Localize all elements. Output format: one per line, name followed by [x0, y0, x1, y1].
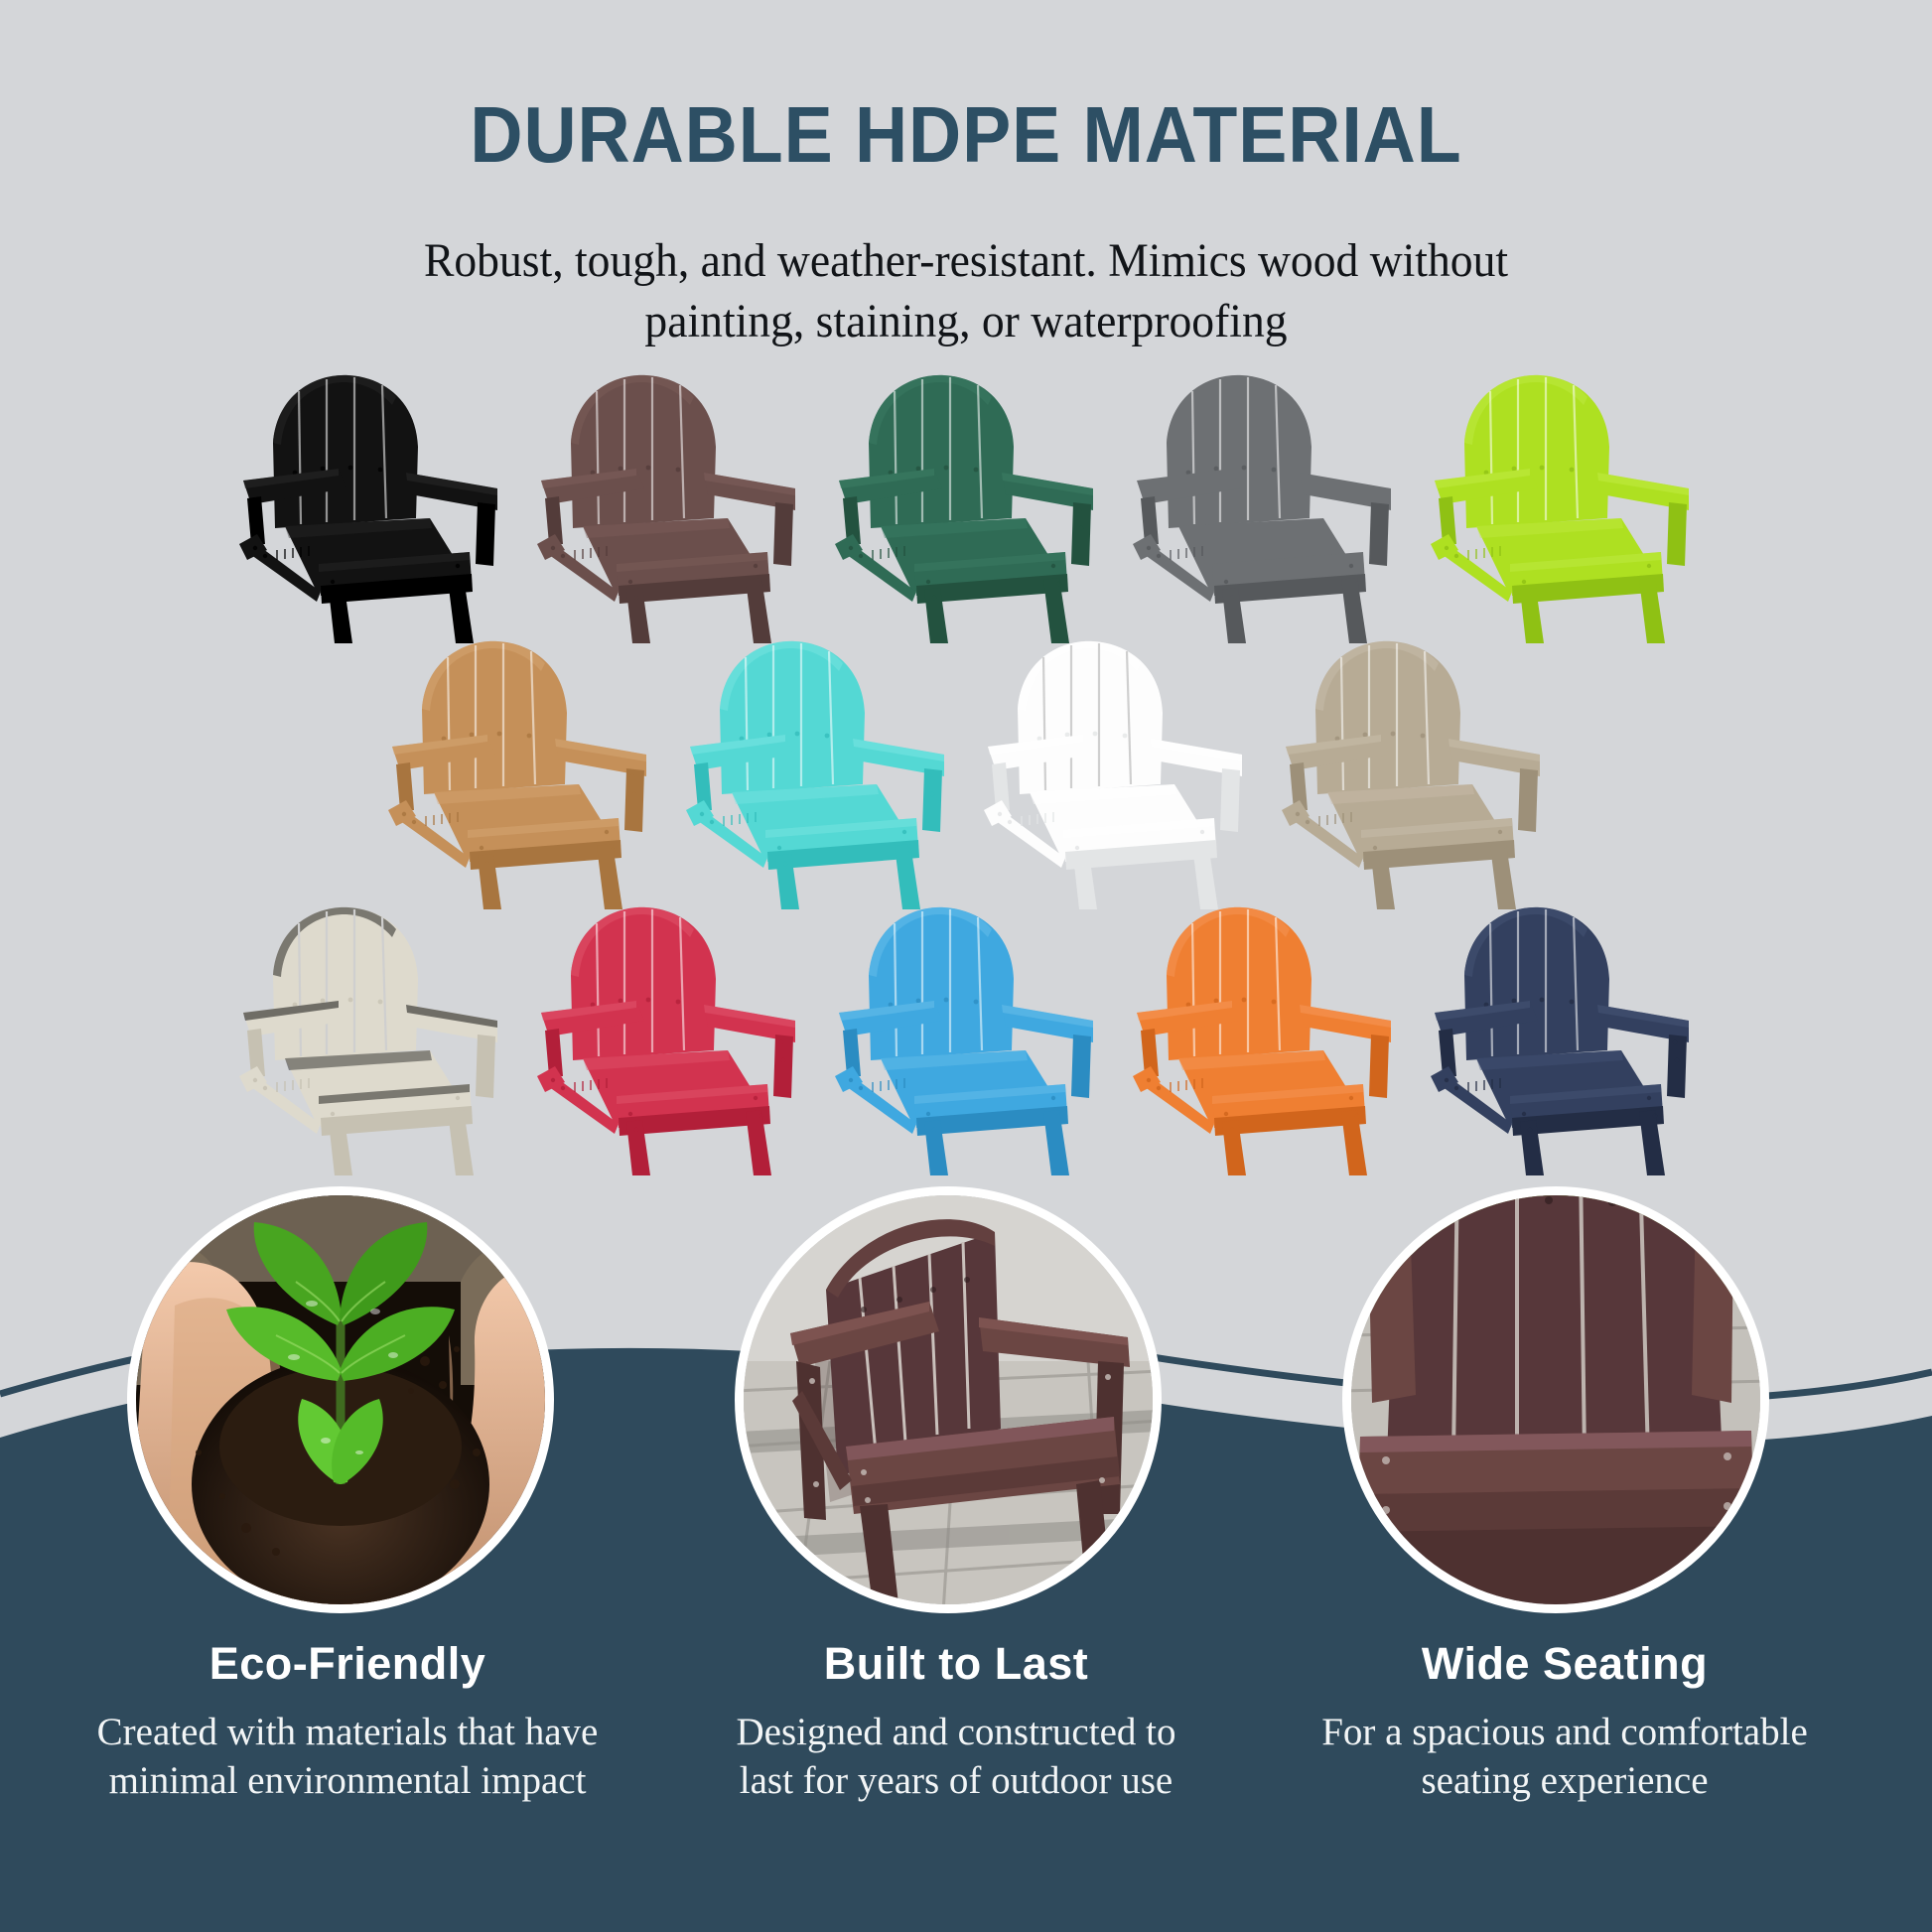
- chair-swatch-weathered-wood[interactable]: [1264, 635, 1562, 909]
- chair-2-1: [519, 901, 817, 1175]
- chair-swatch-brown[interactable]: [519, 369, 817, 643]
- photo-circle-wide-seat-closeup: [1342, 1186, 1769, 1613]
- chair-swatch-ivory[interactable]: [221, 901, 519, 1175]
- chair-0-1: [519, 369, 817, 643]
- chair-back: [273, 907, 418, 1060]
- chair-back: [1315, 641, 1460, 794]
- chair-1-1: [668, 635, 966, 909]
- feature-heading: Built to Last: [648, 1638, 1264, 1690]
- feature-heading: Eco-Friendly: [40, 1638, 655, 1690]
- chair-swatch-dark-green[interactable]: [817, 369, 1115, 643]
- chair-back: [869, 907, 1014, 1060]
- chair-swatch-sky-blue[interactable]: [817, 901, 1115, 1175]
- chair-swatch-orange[interactable]: [1115, 901, 1413, 1175]
- chair-row: [0, 635, 1932, 909]
- brown-chair-on-patio-image: [735, 1186, 1162, 1613]
- chair-back: [571, 907, 716, 1060]
- feature-caption-row: Eco-Friendly Created with materials that…: [0, 1638, 1932, 1886]
- chair-2-4: [1413, 901, 1711, 1175]
- chair-back: [422, 641, 567, 794]
- chair-back: [571, 375, 716, 528]
- chair-1-2: [966, 635, 1264, 909]
- chair-1-0: [370, 635, 668, 909]
- chair-back: [1464, 375, 1609, 528]
- feature-description: Created with materials that have minimal…: [40, 1708, 655, 1805]
- chair-back: [869, 375, 1014, 528]
- feature-built-to-last: Built to Last Designed and constructed t…: [648, 1638, 1264, 1805]
- feature-eco-friendly: Eco-Friendly Created with materials that…: [40, 1638, 655, 1805]
- subtitle-line-2: painting, staining, or waterproofing: [49, 291, 1884, 351]
- feature-wide-seating: Wide Seating For a spacious and comforta…: [1257, 1638, 1872, 1805]
- chair-2-3: [1115, 901, 1413, 1175]
- chair-swatch-black[interactable]: [221, 369, 519, 643]
- feature-description: Designed and constructed to last for yea…: [648, 1708, 1264, 1805]
- chair-swatch-gray[interactable]: [1115, 369, 1413, 643]
- chair-row: [0, 369, 1932, 643]
- chair-back: [1018, 641, 1163, 794]
- chair-0-3: [1115, 369, 1413, 643]
- feature-description-line-1: Designed and constructed to: [737, 1711, 1176, 1753]
- infographic-canvas: DURABLE HDPE MATERIAL Robust, tough, and…: [0, 0, 1932, 1932]
- chair-2-2: [817, 901, 1115, 1175]
- chair-swatch-navy-blue[interactable]: [1413, 901, 1711, 1175]
- subtitle-line-1: Robust, tough, and weather-resistant. Mi…: [49, 230, 1884, 291]
- chair-swatch-teak[interactable]: [370, 635, 668, 909]
- chair-swatch-crimson-red[interactable]: [519, 901, 817, 1175]
- chair-row: [0, 901, 1932, 1175]
- chair-back: [1167, 907, 1311, 1060]
- feature-description: For a spacious and comfortable seating e…: [1257, 1708, 1872, 1805]
- chair-swatch-white[interactable]: [966, 635, 1264, 909]
- chair-back: [1167, 375, 1311, 528]
- feature-description-line-2: minimal environmental impact: [109, 1759, 587, 1802]
- page-subtitle: Robust, tough, and weather-resistant. Mi…: [49, 230, 1884, 352]
- chair-back: [273, 375, 418, 528]
- eco-seedling-in-hands-image: [127, 1186, 554, 1613]
- chair-0-0: [221, 369, 519, 643]
- feature-description-line-1: Created with materials that have: [97, 1711, 599, 1753]
- photo-circle-brown-chair-on-patio: [735, 1186, 1162, 1613]
- chair-color-grid: [0, 369, 1932, 1233]
- wide-seat-closeup-image: [1342, 1186, 1769, 1613]
- page-title: DURABLE HDPE MATERIAL: [77, 95, 1855, 175]
- chair-swatch-lime-green[interactable]: [1413, 369, 1711, 643]
- chair-0-2: [817, 369, 1115, 643]
- feature-description-line-2: last for years of outdoor use: [740, 1759, 1173, 1802]
- chair-swatch-turquoise[interactable]: [668, 635, 966, 909]
- chair-back: [1464, 907, 1609, 1060]
- feature-description-line-2: seating experience: [1421, 1759, 1708, 1802]
- chair-2-0: [221, 901, 519, 1175]
- photo-circle-eco-seedling-in-hands: [127, 1186, 554, 1613]
- photo-circle-row: [0, 1186, 1932, 1643]
- chair-1-3: [1264, 635, 1562, 909]
- chair-0-4: [1413, 369, 1711, 643]
- feature-heading: Wide Seating: [1257, 1638, 1872, 1690]
- chair-back: [720, 641, 865, 794]
- feature-description-line-1: For a spacious and comfortable: [1321, 1711, 1808, 1753]
